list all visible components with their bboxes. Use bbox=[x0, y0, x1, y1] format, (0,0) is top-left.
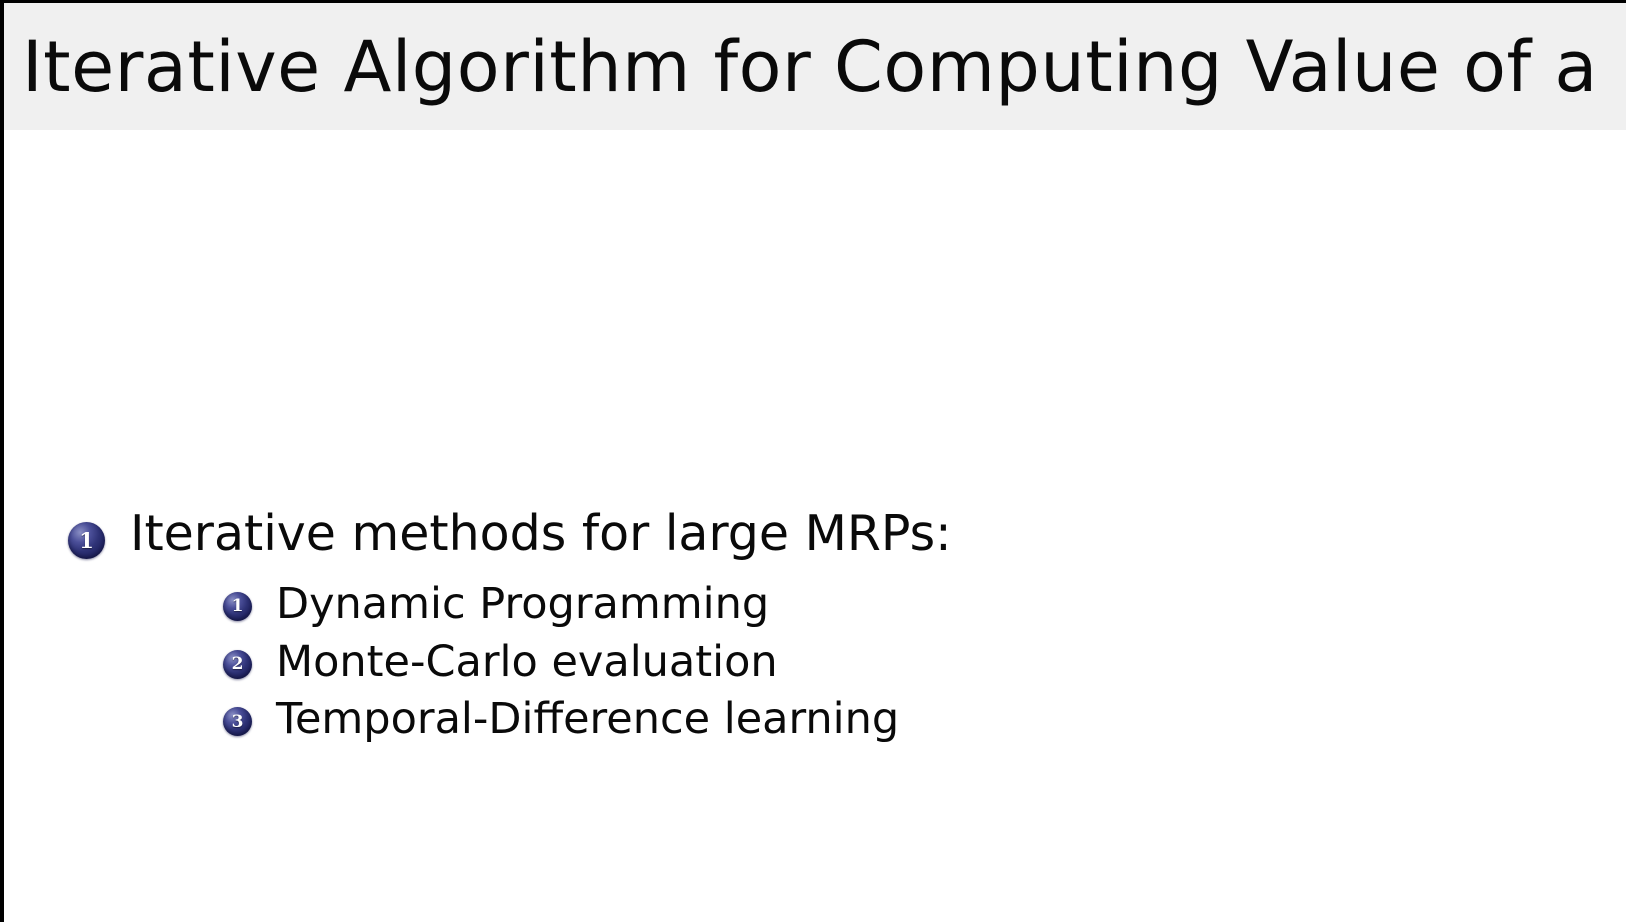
presentation-slide: Iterative Algorithm for Computing Value … bbox=[0, 0, 1626, 922]
enumerate-level-1: 1 Iterative methods for large MRPs: 1 Dy… bbox=[68, 505, 1568, 758]
slide-body: 1 Iterative methods for large MRPs: 1 Dy… bbox=[4, 130, 1626, 922]
numbered-bullet-icon: 2 bbox=[223, 650, 252, 679]
slide-title-bar: Iterative Algorithm for Computing Value … bbox=[4, 3, 1626, 130]
list-item-label: Temporal-Difference learning bbox=[276, 694, 899, 745]
list-item-label: Iterative methods for large MRPs: bbox=[130, 505, 952, 563]
enumerate-level-2: 1 Dynamic Programming 2 Monte-Carlo eval… bbox=[223, 579, 952, 745]
list-item: 1 Dynamic Programming bbox=[223, 579, 952, 630]
numbered-bullet-icon: 1 bbox=[68, 522, 105, 559]
list-item: 3 Temporal-Difference learning bbox=[223, 694, 952, 745]
list-item: 1 Iterative methods for large MRPs: 1 Dy… bbox=[68, 505, 1568, 752]
numbered-bullet-icon: 3 bbox=[223, 707, 252, 736]
numbered-bullet-icon: 1 bbox=[223, 592, 252, 621]
list-item-label: Monte-Carlo evaluation bbox=[276, 637, 778, 688]
list-item: 2 Monte-Carlo evaluation bbox=[223, 637, 952, 688]
slide-title: Iterative Algorithm for Computing Value … bbox=[4, 32, 1626, 102]
list-item-label: Dynamic Programming bbox=[276, 579, 769, 630]
